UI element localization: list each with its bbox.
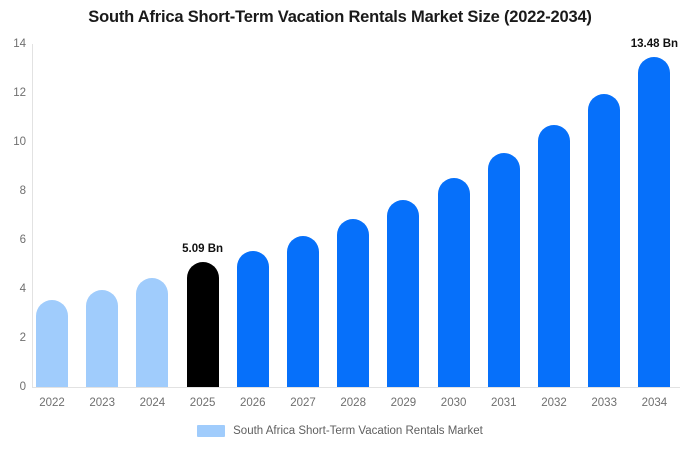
y-axis-tick-label: 14 (0, 38, 26, 50)
bar[interactable] (588, 94, 620, 387)
x-axis-tick-label: 2030 (441, 397, 467, 409)
y-axis-tick-label: 6 (0, 234, 26, 246)
bar[interactable] (136, 278, 168, 387)
bar[interactable] (638, 57, 670, 387)
y-axis-tick-label: 10 (0, 136, 26, 148)
legend-swatch-icon (197, 425, 225, 437)
x-axis-tick-label: 2032 (541, 397, 567, 409)
y-axis-tick-label: 8 (0, 185, 26, 197)
bar[interactable] (438, 178, 470, 387)
x-axis-tick-label: 2025 (190, 397, 216, 409)
bar-value-label: 5.09 Bn (182, 243, 223, 255)
bar[interactable] (538, 125, 570, 387)
bar[interactable] (387, 200, 419, 387)
x-axis-tick-label: 2023 (89, 397, 115, 409)
y-axis-tick-label: 4 (0, 283, 26, 295)
x-axis-tick-label: 2024 (140, 397, 166, 409)
x-axis-tick-label: 2026 (240, 397, 266, 409)
bar[interactable] (337, 219, 369, 387)
x-axis-tick-label: 2033 (591, 397, 617, 409)
x-axis-tick-label: 2028 (340, 397, 366, 409)
x-axis-line (32, 387, 680, 388)
legend-item-label: South Africa Short-Term Vacation Rentals… (233, 425, 483, 437)
y-axis-tick-label: 0 (0, 381, 26, 393)
y-axis-tick-label: 2 (0, 332, 26, 344)
bar[interactable] (36, 300, 68, 387)
bar[interactable] (488, 153, 520, 387)
x-axis-tick-label: 2031 (491, 397, 517, 409)
bar-value-label: 13.48 Bn (631, 38, 678, 50)
x-axis-tick-label: 2027 (290, 397, 316, 409)
bar[interactable] (187, 262, 219, 387)
chart-legend: South Africa Short-Term Vacation Rentals… (0, 425, 680, 437)
x-axis-tick-label: 2029 (391, 397, 417, 409)
bar-chart: South Africa Short-Term Vacation Rentals… (0, 0, 680, 450)
x-axis-tick-label: 2022 (39, 397, 65, 409)
y-axis-tick-label: 12 (0, 87, 26, 99)
bar[interactable] (237, 251, 269, 387)
bar[interactable] (86, 290, 118, 387)
bar[interactable] (287, 236, 319, 387)
x-axis-tick-label: 2034 (642, 397, 668, 409)
